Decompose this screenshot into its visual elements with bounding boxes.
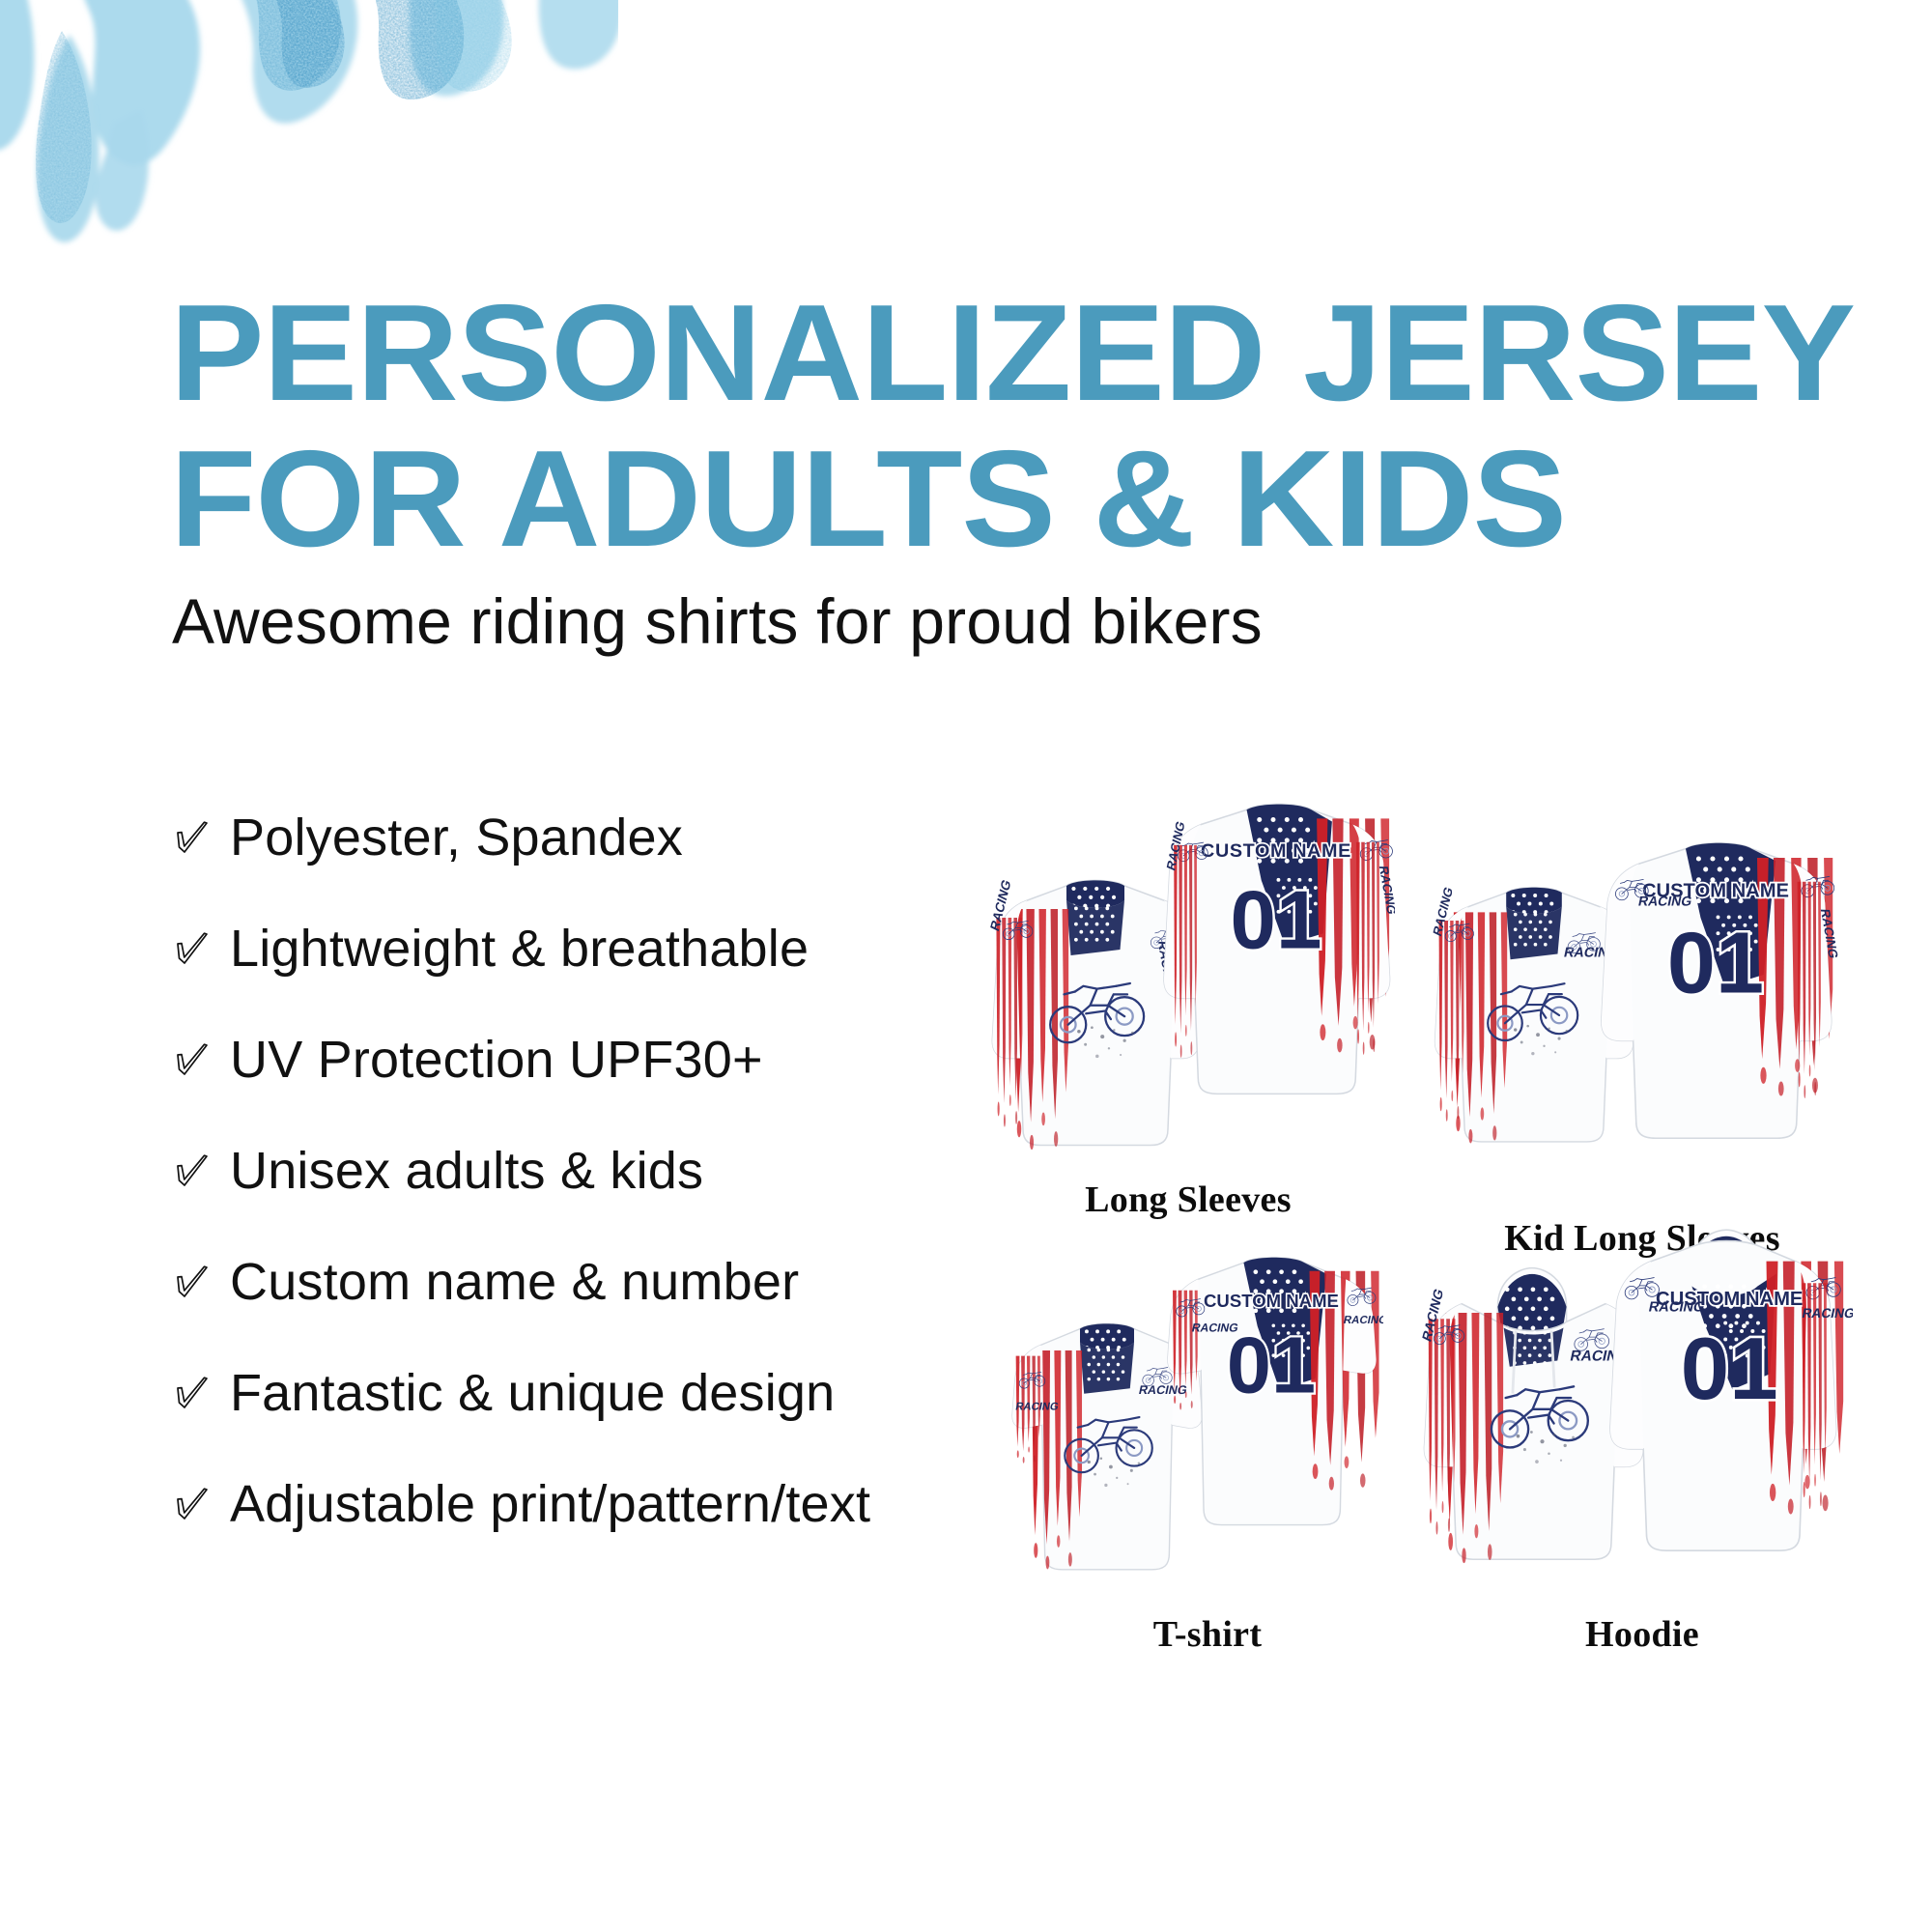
check-outline-icon (170, 1261, 214, 1303)
product-images-kid-long-sleeves: RACING RACING CUSTOM NAM (1430, 831, 1855, 1179)
product-images-long-sleeves: RACING RACING (985, 792, 1391, 1179)
product-label: Hoodie (1420, 1613, 1864, 1656)
feature-list: Polyester, Spandex Lightweight & breatha… (170, 811, 1001, 1589)
garment-back-view: CUSTOM NAME 01 RACING RACING (1592, 831, 1839, 1146)
feature-label: Polyester, Spandex (230, 811, 683, 864)
feature-label: UV Protection UPF30+ (230, 1034, 763, 1086)
jersey-custom-name-text: CUSTOM NAME (1204, 1291, 1339, 1311)
svg-text:RACING: RACING (1801, 1305, 1853, 1321)
page-title: Personalized Jersey For Adults & Kids (170, 281, 1822, 572)
svg-text:RACING: RACING (1343, 1315, 1383, 1326)
page-title-line-1: Personalized Jersey (170, 281, 1822, 427)
jersey-custom-name-text: CUSTOM NAME (1201, 840, 1351, 862)
jersey-number-text: 01 (1667, 915, 1764, 1012)
page-title-line-2: For Adults & Kids (170, 427, 1822, 573)
feature-label: Adjustable print/pattern/text (230, 1478, 870, 1530)
product-images-t-shirt: RACING RACING CUSTOM NAME (1005, 1246, 1410, 1613)
jersey-number-text: 01 (1681, 1321, 1778, 1418)
feature-list-item: Lightweight & breathable (170, 923, 1001, 1034)
feature-label: Custom name & number (230, 1256, 799, 1308)
feature-list-item: Unisex adults & kids (170, 1145, 1001, 1256)
product-label: Long Sleeves (985, 1179, 1391, 1221)
jersey-number-text: 01 (1227, 1320, 1316, 1409)
jersey-number-text: 01 (1231, 875, 1322, 967)
check-outline-icon (170, 1372, 214, 1414)
product-label: T-shirt (1005, 1613, 1410, 1656)
feature-label: Lightweight & breathable (230, 923, 809, 975)
product-card-hoodie[interactable]: RACING RACING (1420, 1227, 1864, 1613)
feature-list-item: Polyester, Spandex (170, 811, 1001, 923)
product-card-t-shirt[interactable]: RACING RACING CUSTOM NAME (1005, 1246, 1410, 1613)
garment-back-view: CUSTOM NAME 01 RACING RACING (1600, 1227, 1853, 1555)
svg-text:RACING: RACING (1191, 1321, 1240, 1335)
page-subtitle: Awesome riding shirts for proud bikers (172, 589, 1263, 653)
svg-text:RACING: RACING (1647, 1300, 1706, 1316)
feature-list-item: Fantastic & unique design (170, 1367, 1001, 1478)
check-outline-icon (170, 1483, 214, 1525)
feature-list-item: Adjustable print/pattern/text (170, 1478, 1001, 1589)
product-card-long-sleeves[interactable]: RACING RACING (985, 792, 1391, 1179)
garment-back-view: CUSTOM NAME 01 RACING RACING (1157, 792, 1395, 1101)
check-outline-icon (170, 816, 214, 859)
product-gallery: RACING RACING (985, 792, 1893, 1662)
feature-label: Fantastic & unique design (230, 1367, 835, 1419)
check-outline-icon (170, 1150, 214, 1192)
svg-text:RACING: RACING (1637, 894, 1693, 909)
check-outline-icon (170, 927, 214, 970)
feature-list-item: Custom name & number (170, 1256, 1001, 1367)
feature-label: Unisex adults & kids (230, 1145, 703, 1197)
svg-text:RACING: RACING (1014, 1402, 1060, 1413)
feature-list-item: UV Protection UPF30+ (170, 1034, 1001, 1145)
product-images-hoodie: RACING RACING (1420, 1227, 1864, 1613)
check-outline-icon (170, 1038, 214, 1081)
garment-back-view: CUSTOM NAME 01 RACING RACING (1159, 1246, 1383, 1536)
product-card-kid-long-sleeves[interactable]: RACING RACING CUSTOM NAM (1430, 831, 1855, 1179)
